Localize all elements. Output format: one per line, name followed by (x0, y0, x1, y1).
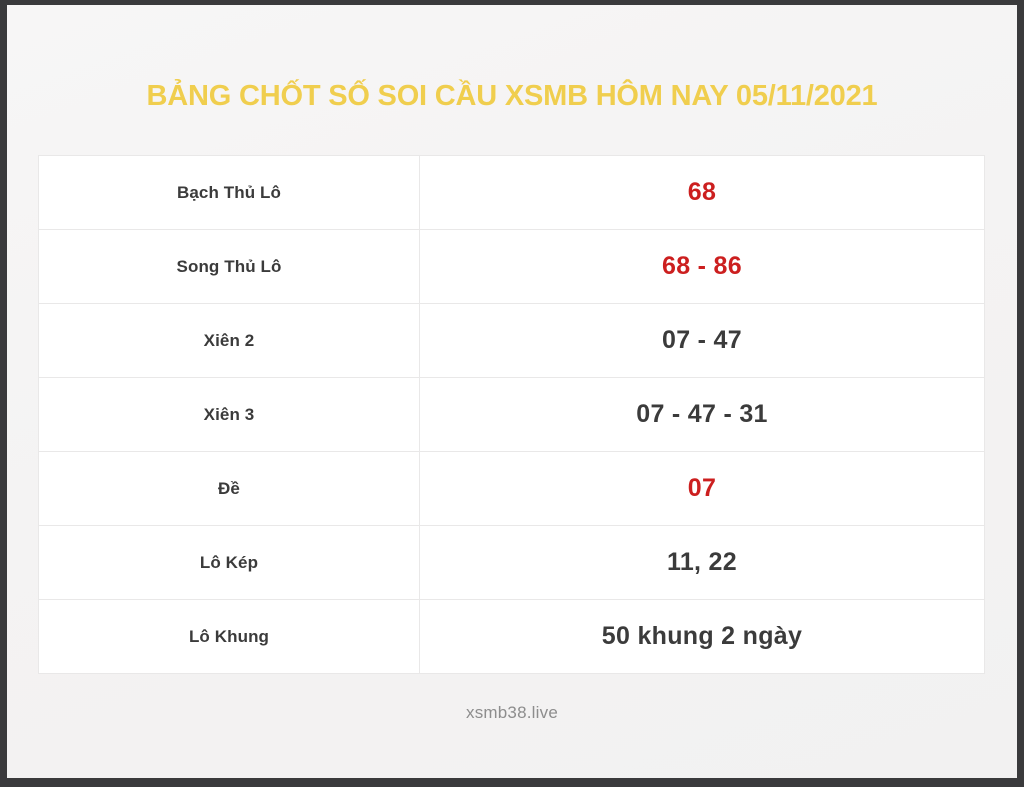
row-value-cell: 07 - 47 - 31 (420, 378, 985, 452)
table-row: Lô Khung50 khung 2 ngày (39, 600, 985, 674)
table-row: Đề07 (39, 452, 985, 526)
chot-so-table: Bạch Thủ Lô68Song Thủ Lô68 - 86Xiên 207 … (38, 155, 985, 674)
table-row: Bạch Thủ Lô68 (39, 156, 985, 230)
row-value-cell: 07 - 47 (420, 304, 985, 378)
row-value-cell: 07 (420, 452, 985, 526)
table-row: Lô Kép11, 22 (39, 526, 985, 600)
row-label-cell: Lô Kép (39, 526, 420, 600)
page-title: BẢNG CHỐT SỐ SOI CẦU XSMB HÔM NAY 05/11/… (7, 80, 1017, 113)
footer-site-label: xsmb38.live (7, 703, 1017, 723)
row-value-cell: 11, 22 (420, 526, 985, 600)
row-value-cell: 68 - 86 (420, 230, 985, 304)
table-body: Bạch Thủ Lô68Song Thủ Lô68 - 86Xiên 207 … (39, 156, 985, 674)
table-row: Xiên 307 - 47 - 31 (39, 378, 985, 452)
row-label-cell: Bạch Thủ Lô (39, 156, 420, 230)
table-row: Xiên 207 - 47 (39, 304, 985, 378)
row-label-cell: Song Thủ Lô (39, 230, 420, 304)
table-row: Song Thủ Lô68 - 86 (39, 230, 985, 304)
row-label-cell: Xiên 3 (39, 378, 420, 452)
chot-so-table-container: Bạch Thủ Lô68Song Thủ Lô68 - 86Xiên 207 … (38, 155, 985, 674)
row-label-cell: Lô Khung (39, 600, 420, 674)
row-label-cell: Xiên 2 (39, 304, 420, 378)
row-value-cell: 68 (420, 156, 985, 230)
row-label-cell: Đề (39, 452, 420, 526)
row-value-cell: 50 khung 2 ngày (420, 600, 985, 674)
page-canvas: BẢNG CHỐT SỐ SOI CẦU XSMB HÔM NAY 05/11/… (7, 5, 1017, 778)
